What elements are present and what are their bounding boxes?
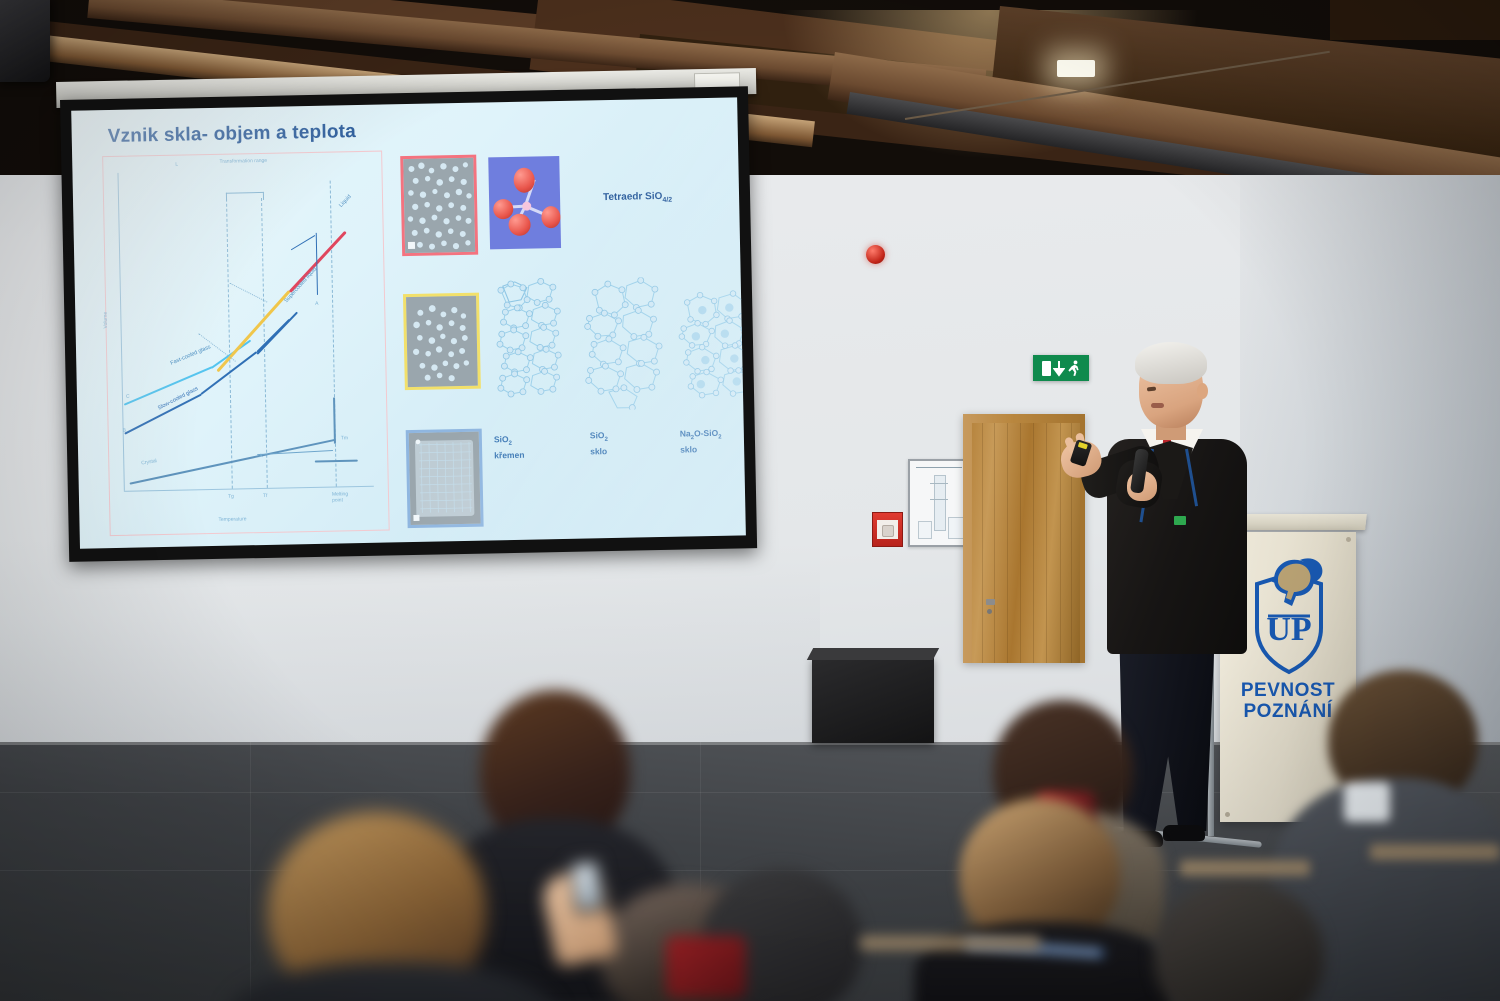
presenter-hair [1135,342,1207,384]
label-sub-1: 2 [509,441,512,447]
ceiling-spotlight [1057,60,1095,77]
chart-xtick-tf: Tf [263,493,268,499]
clicker-led-icon [1078,442,1088,450]
exit-door-glyph [1042,361,1051,376]
gridline-tg [226,199,233,489]
chart-label-crystal: Crystal [141,458,157,466]
structure-label-glass: SiO2 sklo [590,430,609,457]
label-sub-2: 2 [605,437,608,443]
chart-label-transformation-range: Transformation range [208,158,278,166]
fire-alarm-button[interactable] [882,525,894,537]
micrograph-crystalline-lattice [406,429,484,529]
projected-slide: Vznik skla- objem a teplota [71,97,746,548]
arrow-a [257,450,333,455]
oxygen-atom-left [493,199,513,219]
series-melting-drop [315,460,358,463]
structure-label-quartz: SiO2 křemen [494,434,525,461]
label-formula-1: SiO [494,434,509,444]
audience-chair-row [1180,840,1500,1001]
chart-xtick-tg: Tg [228,494,234,500]
label-caption-1: křemen [494,449,524,460]
fire-alarm-call-point[interactable] [872,512,903,547]
sio4-tetrahedron-image [488,156,561,249]
presenter-shoe-right [1163,825,1205,841]
micrograph-dots-3 [409,432,481,525]
smartphone[interactable] [569,858,606,914]
audience-chair-left [860,930,1060,1001]
chart-ylabel: Volume [103,312,109,329]
label-caption-2: sklo [590,446,607,456]
chart-label-point-a: A [315,301,318,307]
label-caption-3: sklo [680,444,697,454]
chart-label-point-b: B [123,428,126,434]
label-formula-2: SiO [590,430,605,440]
slide-title: Vznik skla- objem a teplota [108,121,357,148]
chart-label-point-a2: A [259,453,262,459]
door-handle[interactable] [986,599,995,605]
projection-screen-frame: Vznik skla- objem a teplota [60,86,757,562]
chart-label-point-c: C [126,394,130,400]
micrograph-dots-2 [406,296,478,387]
transformation-range-brace [226,192,264,201]
phone-screen [572,863,602,910]
audience-member-2 [248,812,548,1001]
label-formula-3b: O-SiO [694,428,718,438]
presenter-ear [1197,383,1208,399]
chart-y-axis [117,173,124,491]
fire-alarm-beacon-icon [866,245,885,264]
tetrahedron-label: Tetraedr SiO4/2 [603,191,672,205]
evacuation-plan-frame [908,459,970,547]
chart-label-supercooled-liquid: Supercooled liquid [283,264,319,304]
label-sub-3b: 2 [718,434,721,440]
network-structure-quartz [491,277,584,409]
corner-speaker [0,0,50,82]
micrograph-glass-amorphous [403,293,481,391]
network-structure-sodium-silicate [677,289,746,403]
av-equipment-box [812,657,934,743]
chart-label-l: L [175,162,178,168]
chart-xlabel: Temperature [218,516,246,523]
lecture-hall-photo: Vznik skla- objem a teplota [0,0,1500,1001]
structure-label-sodium-silicate: Na2O-SiO2 sklo [680,428,722,456]
arrow-a-vertical [291,235,315,250]
volume-temperature-chart: L Transformation range Liquid Supercoole… [102,151,390,537]
chart-label-tm: Tm [341,435,348,441]
audience-member-4 [672,862,892,1001]
tetrahedron-label-sub: 4/2 [662,197,672,204]
presenter-badge [1174,516,1186,525]
micrograph-quartz-crystal [400,155,478,257]
micrograph-dots-1 [403,158,475,253]
chart-xtick-melting-point: Melting point [332,491,358,504]
network-structure-glass [581,277,680,411]
oxygen-atom-bottom [508,214,530,236]
chart-label-liquid: Liquid [338,194,352,209]
label-formula-3a: Na [680,428,691,438]
oxygen-atom-right [541,206,560,228]
door-lock-icon [987,609,992,614]
chart-label-fast-cooled-glass: Fast-cooled glass [170,344,212,366]
tetrahedron-label-text: Tetraedr SiO [603,191,662,203]
